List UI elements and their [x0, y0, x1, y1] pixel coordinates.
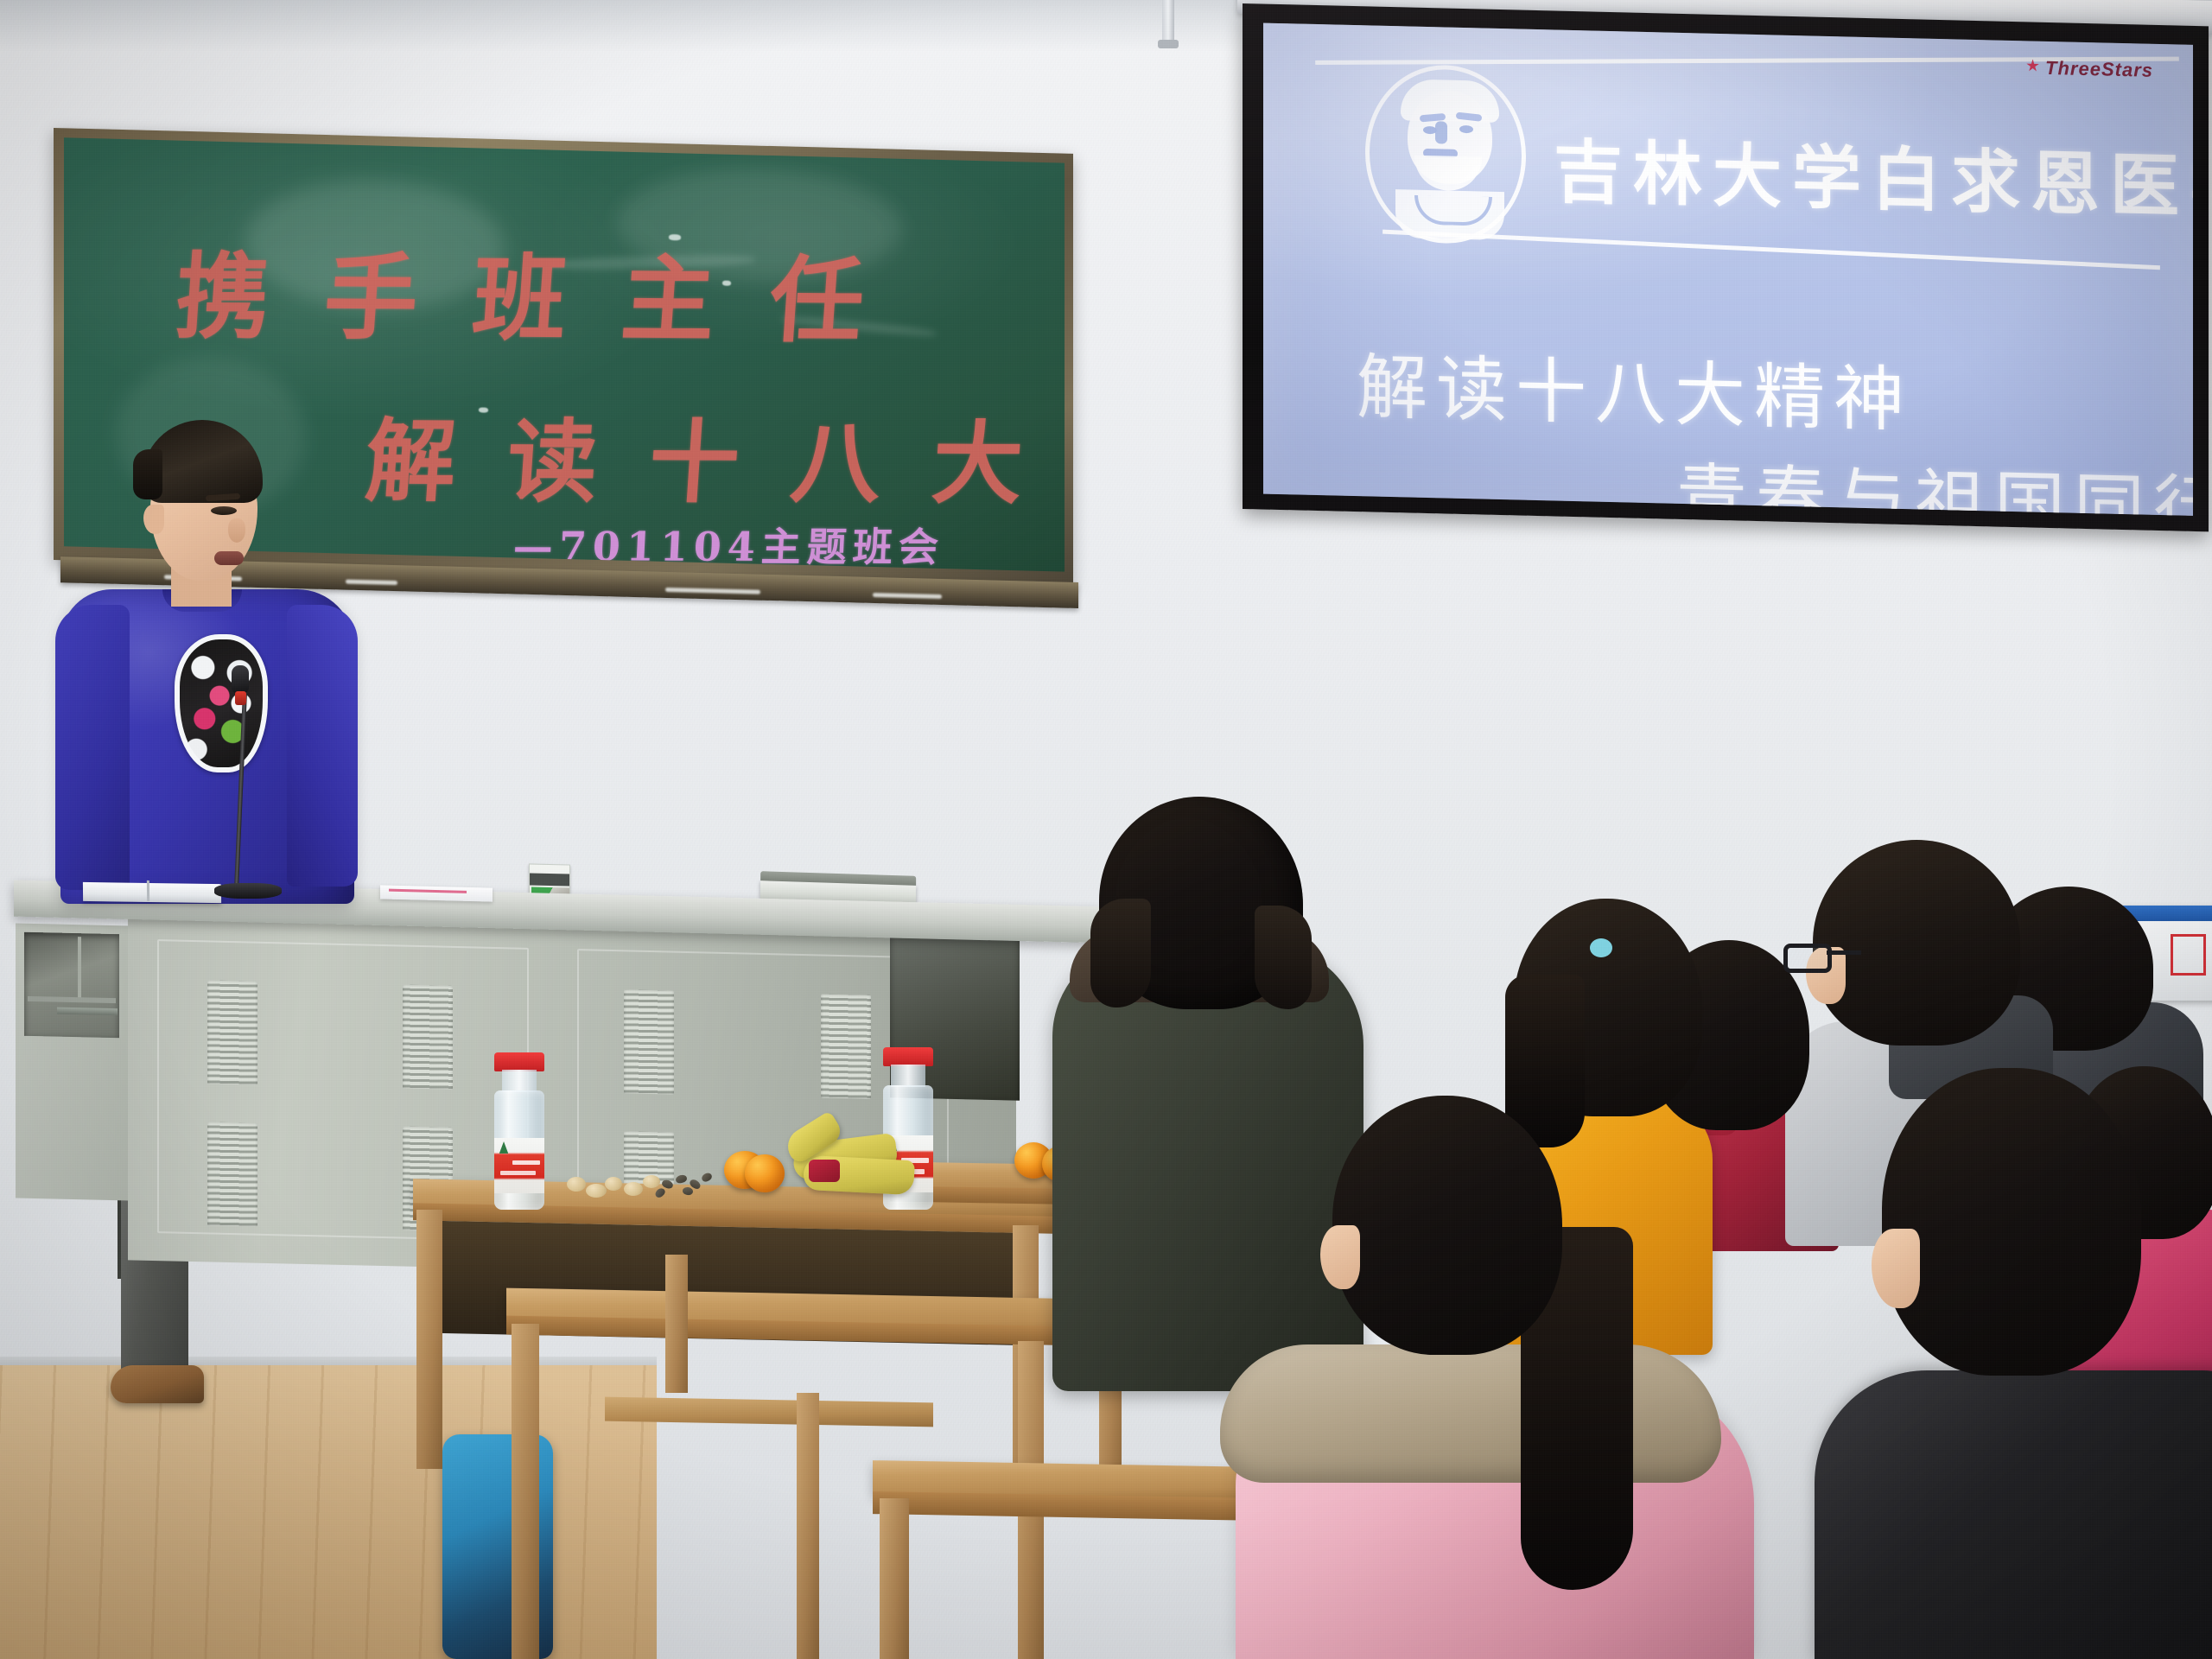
open-book[interactable] [83, 882, 221, 903]
presenter-mouth [214, 551, 244, 565]
attendee-coat-olive [1052, 942, 1363, 1391]
blackboard-line-1: 携手班主任 [172, 222, 925, 361]
wood-floor [0, 1365, 657, 1659]
student-head-glasses-boy [1813, 840, 2020, 1046]
bottle-neck [502, 1070, 536, 1092]
water-bottle-left[interactable] [494, 1052, 544, 1210]
curly-hair-strand [1090, 899, 1151, 1007]
fur-hood-trim [1220, 1344, 1721, 1483]
presenter-shoe [111, 1365, 204, 1403]
orange-fruit[interactable] [745, 1154, 785, 1192]
chair-back-post [665, 1255, 688, 1393]
peanut[interactable] [624, 1182, 643, 1196]
chair-back-post [797, 1393, 819, 1659]
podium-cubby [24, 932, 119, 1038]
third-desk-leg [880, 1498, 909, 1659]
peanut[interactable] [567, 1177, 586, 1192]
peanut[interactable] [586, 1184, 607, 1198]
cabinet-vent [207, 980, 257, 1084]
screen-mount-bracket [1162, 0, 1174, 48]
microphone-head-icon [232, 665, 249, 695]
classroom-photo-scene: 携手班主任 解读十八大 —701104主题班会 [0, 0, 2212, 1659]
curly-hair-strand [1255, 906, 1312, 1009]
student-head-pink-coat [1332, 1096, 1562, 1355]
bottle-cap [494, 1052, 544, 1071]
microphone-indicator [235, 691, 246, 705]
student-head-black-coat [1882, 1068, 2141, 1376]
box-stamp-icon [2171, 934, 2206, 976]
hair-tie [1590, 938, 1612, 957]
student-black-coat [1815, 1370, 2212, 1659]
bottle-neck [891, 1065, 925, 1087]
presenter-ear [143, 505, 164, 534]
student-ear [1320, 1225, 1360, 1289]
presenter-hair [142, 420, 263, 503]
front-desk-leg [416, 1210, 442, 1469]
projection-screen[interactable]: 吉林大学白求恩医学院 解读十八大精神 青春与祖国同行 701104团支部 Thr… [1243, 3, 2209, 531]
cabinet-vent [624, 989, 674, 1094]
banana-sticker [809, 1160, 840, 1182]
presenter-eye [211, 506, 237, 515]
screen-vignette [1263, 23, 2193, 516]
student-presenter [60, 420, 354, 904]
peanut[interactable] [605, 1177, 622, 1191]
cabinet-vent [207, 1122, 257, 1226]
eyeglasses-temple [1827, 950, 1861, 955]
presenter-arm-right [287, 605, 358, 887]
microphone-base[interactable] [214, 883, 282, 899]
bottle-body [494, 1090, 544, 1210]
projected-slide: 吉林大学白求恩医学院 解读十八大精神 青春与祖国同行 701104团支部 [1263, 23, 2193, 516]
bottle-cap [883, 1047, 933, 1066]
eyeglasses-icon [1783, 944, 1832, 973]
sweater-graphic-print [175, 634, 268, 772]
cabinet-vent [821, 995, 871, 1099]
cabinet-vent [403, 985, 453, 1090]
peanut[interactable] [643, 1175, 660, 1188]
second-desk-leg [512, 1324, 539, 1659]
paper-sheet[interactable] [380, 885, 493, 901]
presenter-arm-left [55, 605, 130, 890]
bottle-label [494, 1138, 544, 1192]
blackboard-line-2: 解读十八大 [362, 388, 1065, 522]
presenter-nose [228, 518, 245, 543]
screen-brand-label: ThreeStars [2045, 57, 2153, 82]
